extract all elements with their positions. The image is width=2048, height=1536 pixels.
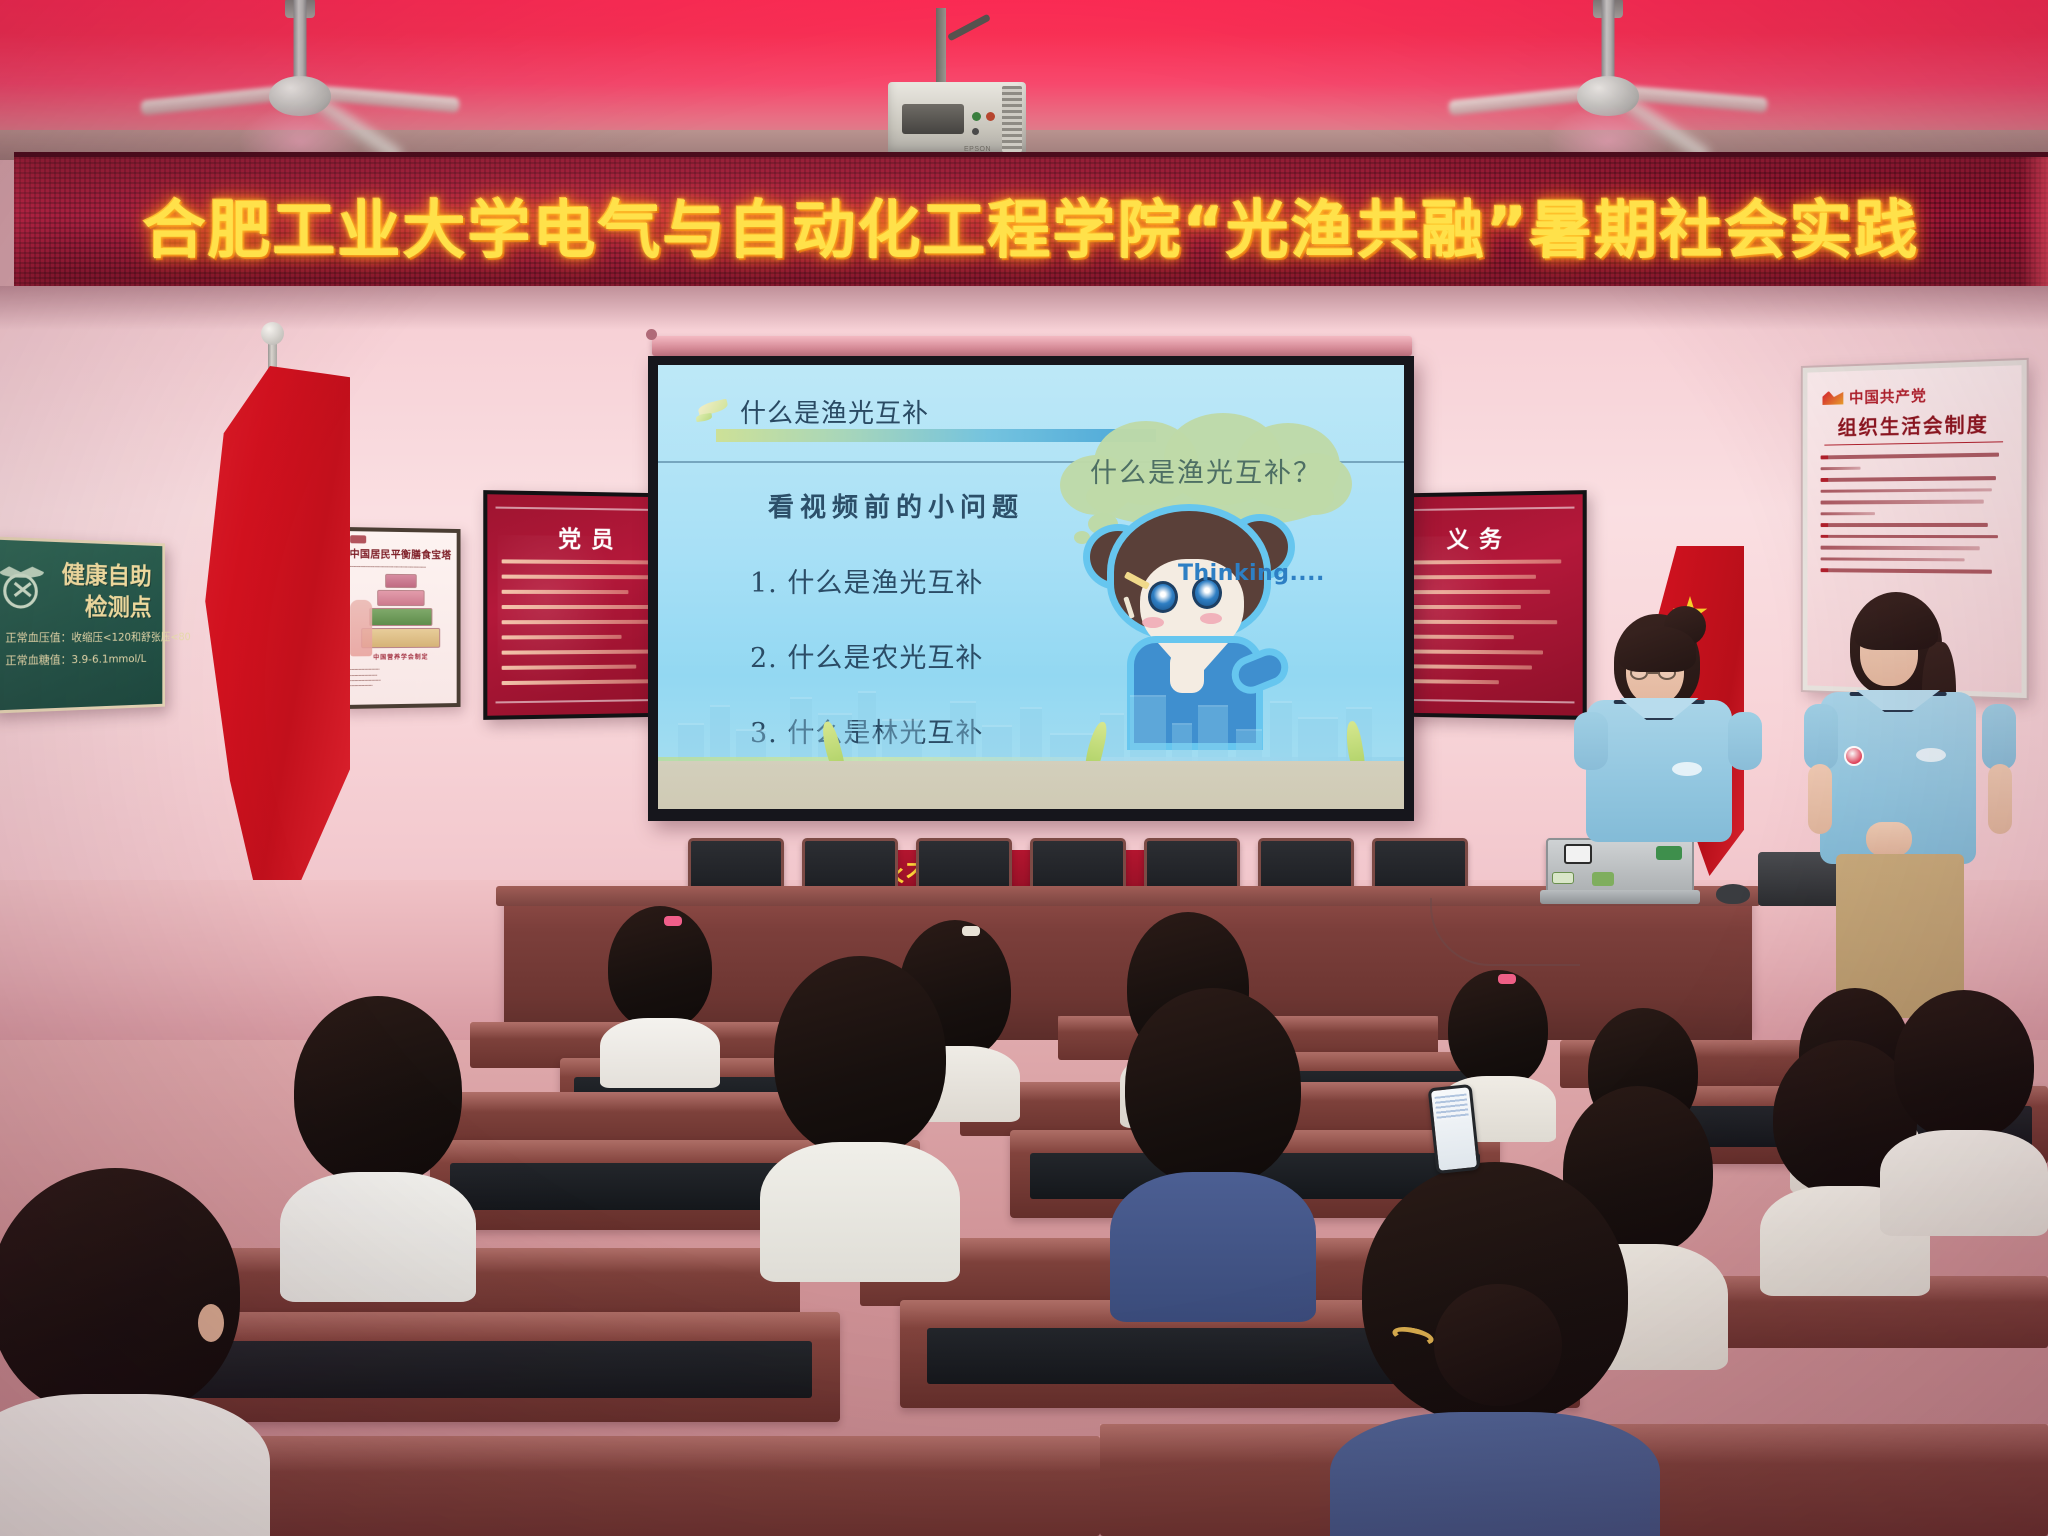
presenter-right [1810,596,2010,1016]
led-scrolling-banner: 合肥工业大学电气与自动化工程学院“光渔共融”暑期社会实践 [14,152,2048,292]
leaf-icon [696,401,730,423]
audience-member-with-phone [1330,1162,1660,1536]
mascot-caption: Thinking.... [1178,561,1325,586]
badge-pin-icon [1844,746,1864,766]
smartphone-icon[interactable] [1428,1084,1481,1174]
party-poster-title: 组织生活会制度 [1824,408,2003,446]
slide-question-2: 2. 什么是农光互补 [750,636,983,675]
pink-hair-tie-icon [1498,974,1516,984]
projection-screen-roller [652,336,1412,356]
poster-figure [350,600,372,657]
health-cross-icon [0,563,50,611]
city-silhouette [658,679,1404,763]
party-flag-icon [1822,391,1843,405]
diet-poster-notes: ▪▪▪▪▪▪▪▪▪▪▪▪▪▪▪▪▪▪▪▪▪▪▪▪▪▪▪▪▪▪▪▪▪▪▪▪▪▪▪▪… [349,667,452,689]
dietary-pagoda-poster: 中国居民平衡膳食宝塔 ▪▪▪▪▪▪▪▪▪▪▪▪▪▪▪▪▪▪▪▪▪▪▪▪▪▪▪▪▪… [340,527,461,709]
thought-bubble-text: 什么是渔光互补？ [1060,451,1352,490]
audience-member [1880,990,2048,1230]
slide-title: 什么是渔光互补 [740,393,929,430]
audience-member [280,996,476,1296]
hair-clip-icon [962,926,980,936]
presentation-slide: 什么是渔光互补 看视频前的小问题 1. 什么是渔光互补 2. 什么是农光互补 3… [658,365,1404,809]
society-seal-icon [350,535,366,543]
projection-screen: 什么是渔光互补 看视频前的小问题 1. 什么是渔光互补 2. 什么是农光互补 3… [648,356,1414,821]
red-poster-right-text [1392,559,1572,696]
photo-scene: EPSON 合肥工业大学电气与自动化工程学院“光渔共融”暑期社会实践 健康自助 … [0,0,2048,1536]
audience-member [0,1168,270,1536]
health-sign-glucose-line: 正常血糖值：3.9-6.1mmol/L [5,651,151,670]
slide-question-1: 1. 什么是渔光互补 [750,561,983,600]
audience-member [600,906,720,1076]
wall-shadow [0,286,2048,330]
presenter-left [1578,620,1758,920]
party-poster-brand: 中国共产党 [1849,385,1927,408]
audience-member [1110,988,1316,1318]
diet-poster-intro: ▪▪▪▪▪▪▪▪▪▪▪▪▪▪▪▪▪▪▪▪▪▪▪▪▪▪▪▪▪▪▪▪▪▪▪▪▪▪▪▪… [350,564,451,570]
diet-poster-title: 中国居民平衡膳食宝塔 [348,545,453,561]
health-check-point-sign: 健康自助 检测点 正常血压值：收缩压<120和舒张压<80 正常血糖值：3.9-… [0,536,165,713]
led-banner-text: 合肥工业大学电气与自动化工程学院“光渔共融”暑期社会实践 [143,180,1920,271]
slide-subheading: 看视频前的小问题 [768,487,1024,524]
slide-foreground [658,761,1404,809]
pink-hair-tie-icon [664,916,682,926]
party-poster-body [1821,452,2008,573]
audience-member [760,956,960,1276]
health-sign-bp-line: 正常血压值：收缩压<120和舒张压<80 [5,630,151,647]
projector-icon: EPSON [888,8,1026,158]
